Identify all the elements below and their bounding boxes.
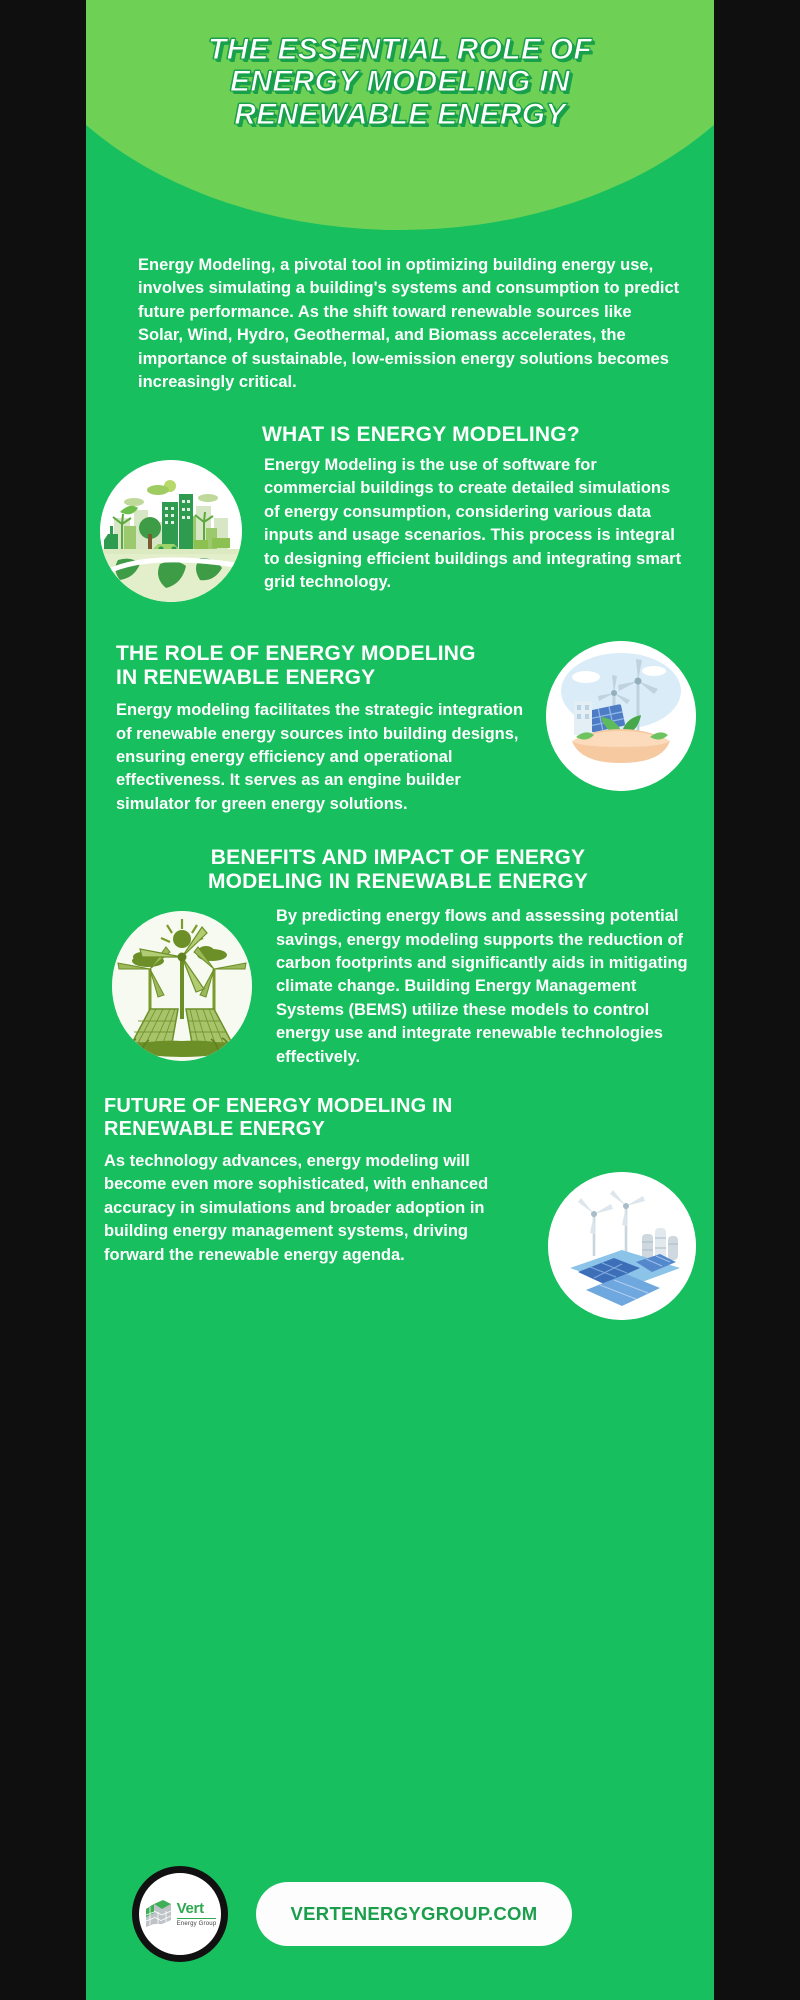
section-benefits-and-impact: BENEFITS AND IMPACT OF ENERGY MODELING I… bbox=[86, 846, 714, 1069]
section-what-is-energy-modeling: WHAT IS ENERGY MODELING? bbox=[86, 423, 714, 603]
title-line-2: ENERGY MODELING IN bbox=[114, 66, 686, 98]
section-heading-future-line-2: RENEWABLE ENERGY bbox=[104, 1118, 696, 1140]
logo-name: Vert bbox=[177, 1901, 217, 1916]
wind-turbines-solar-panel-icon bbox=[112, 911, 252, 1061]
header: THE ESSENTIAL ROLE OF ENERGY MODELING IN… bbox=[86, 0, 714, 240]
section-role-of-energy-modeling: THE ROLE OF ENERGY MODELING IN RENEWABLE… bbox=[86, 642, 714, 816]
logo-divider bbox=[177, 1918, 217, 1919]
section-heading-future-line-1: FUTURE OF ENERGY MODELING IN bbox=[104, 1095, 696, 1117]
intro-block: Energy Modeling, a pivotal tool in optim… bbox=[86, 240, 714, 395]
footer: Vert Energy Group VERTENERGYGROUP.COM bbox=[86, 1854, 714, 1974]
section-body-benefits: By predicting energy flows and assessing… bbox=[276, 905, 694, 1069]
website-url-label: VERTENERGYGROUP.COM bbox=[291, 1903, 538, 1925]
section-heading-benefits-line-1: BENEFITS AND IMPACT OF ENERGY bbox=[118, 846, 678, 870]
section-header-benefits: BENEFITS AND IMPACT OF ENERGY MODELING I… bbox=[100, 846, 696, 893]
intro-paragraph: Energy Modeling, a pivotal tool in optim… bbox=[138, 254, 680, 395]
infographic-page: THE ESSENTIAL ROLE OF ENERGY MODELING IN… bbox=[86, 0, 714, 2000]
solar-farm-turbines-icon bbox=[548, 1172, 696, 1320]
website-url-button[interactable]: VERTENERGYGROUP.COM bbox=[256, 1882, 572, 1946]
section-body-future: As technology advances, energy modeling … bbox=[104, 1150, 532, 1267]
section-heading-benefits-line-2: MODELING IN RENEWABLE ENERGY bbox=[118, 870, 678, 894]
hands-holding-renewables-icon bbox=[546, 641, 696, 791]
title-line-3: RENEWABLE ENERGY bbox=[114, 99, 686, 131]
section-body-role: Energy modeling facilitates the strategi… bbox=[116, 699, 532, 816]
section-header-future: FUTURE OF ENERGY MODELING IN RENEWABLE E… bbox=[104, 1095, 696, 1140]
section-future-of-energy-modeling: FUTURE OF ENERGY MODELING IN RENEWABLE E… bbox=[86, 1095, 714, 1320]
page-title: THE ESSENTIAL ROLE OF ENERGY MODELING IN… bbox=[86, 34, 714, 131]
section-heading-what-is: WHAT IS ENERGY MODELING? bbox=[262, 423, 694, 447]
title-line-1: THE ESSENTIAL ROLE OF bbox=[114, 34, 686, 66]
logo-tagline: Energy Group bbox=[177, 1921, 217, 1927]
green-city-globe-icon bbox=[100, 460, 242, 602]
vert-brick-logo-icon bbox=[144, 1900, 174, 1928]
brand-logo-badge[interactable]: Vert Energy Group bbox=[132, 1866, 228, 1962]
section-body-what-is: Energy Modeling is the use of software f… bbox=[264, 454, 690, 595]
section-header-what-is: WHAT IS ENERGY MODELING? bbox=[100, 423, 694, 447]
